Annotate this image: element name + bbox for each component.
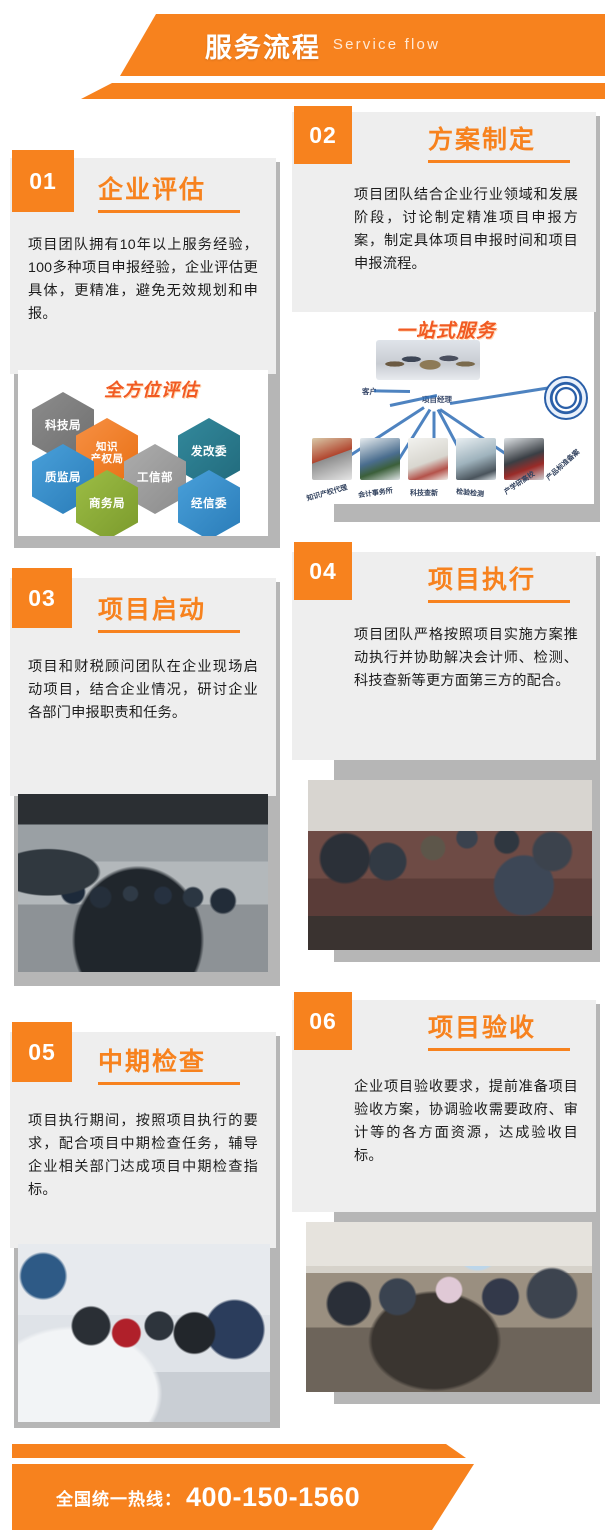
card-photo-exhibition-visit	[18, 1244, 270, 1422]
hotline-label: 全国统一热线：	[56, 1485, 182, 1510]
header-title-group: 服务流程 Service flow	[0, 14, 605, 76]
page-subtitle: Service flow	[333, 36, 440, 55]
card-description: 项目执行期间，按照项目执行的要求，配合项目中期检查任务，辅导企业相关部门达成项目…	[28, 1110, 258, 1202]
step-number-badge: 03	[12, 568, 72, 628]
step-number-badge: 02	[294, 106, 352, 164]
service-chart-team-photo	[376, 340, 480, 380]
hex-node-jingxin: 经信委	[178, 470, 240, 536]
hotline-group: 全国统一热线： 400-150-1560	[56, 1464, 360, 1530]
hexagon-assessment-chart: 全方位评估 科技局 知识 产权局 发改委 质监局 工信部 经信委 商务局	[18, 370, 268, 536]
card-title: 项目执行	[428, 560, 536, 596]
card-photo-working-meeting	[308, 780, 592, 950]
footer-orange-stripe	[12, 1444, 605, 1458]
card-photo-boardroom-acceptance	[306, 1222, 592, 1392]
service-flow-infographic: 服务流程 Service flow 01 企业评估 项目团队拥有10年以上服务经…	[0, 0, 605, 1538]
card-title: 中期检查	[98, 1042, 206, 1078]
photo-image	[308, 780, 592, 950]
step-number-badge: 01	[12, 150, 74, 212]
iso-seal-label: ISO	[558, 393, 574, 403]
hotline-number[interactable]: 400-150-1560	[186, 1482, 360, 1513]
card-description: 项目和财税顾问团队在企业现场启动项目，结合企业情况，研讨企业各部门申报职责和任务…	[28, 656, 258, 725]
step-card-01: 01 企业评估 项目团队拥有10年以上服务经验，100多种项目申报经验，企业评估…	[10, 158, 276, 544]
service-caption-standard: 产品标准备案	[544, 447, 582, 483]
photo-image	[306, 1222, 592, 1392]
service-arrow-3	[450, 386, 553, 405]
photo-image	[18, 794, 268, 972]
service-thumb-ip	[312, 438, 352, 480]
page-header: 服务流程 Service flow	[0, 0, 605, 110]
service-chart-heading: 一站式服务	[396, 316, 496, 343]
step-card-06: 06 项目验收 企业项目验收要求，提前准备项目验收方案，协调验收需要政府、审计等…	[330, 1000, 596, 1400]
card-title: 企业评估	[98, 170, 206, 206]
hexagon-chart-heading: 全方位评估	[104, 376, 199, 402]
card-title-underline	[98, 630, 240, 633]
card-title-underline	[428, 160, 570, 163]
service-thumb-accounting	[360, 438, 400, 480]
card-description: 企业项目验收要求，提前准备项目验收方案，协调验收需要政府、审计等的各方面资源，达…	[354, 1076, 578, 1168]
card-title: 项目验收	[428, 1008, 536, 1044]
card-description: 项目团队结合企业行业领域和发展阶段，讨论制定精准项目申报方案，制定具体项目申报时…	[354, 184, 578, 276]
step-card-03: 03 项目启动 项目和财税顾问团队在企业现场启动项目，结合企业情况，研讨企业各部…	[10, 578, 276, 982]
card-title: 项目启动	[98, 590, 206, 626]
iso-seal-icon: ISO	[544, 376, 588, 420]
card-title-underline	[98, 1082, 240, 1085]
service-arrow-1	[374, 389, 410, 393]
service-caption-accounting: 会计事务所	[357, 486, 393, 501]
step-number-badge: 05	[12, 1022, 72, 1082]
service-caption-research: 科技查新	[410, 488, 438, 498]
card-description: 项目团队拥有10年以上服务经验，100多种项目申报经验，企业评估更具体，更精准，…	[28, 234, 258, 326]
page-footer: 全国统一热线： 400-150-1560	[0, 1428, 605, 1538]
service-caption-inspection: 检验检测	[456, 487, 485, 500]
step-number-badge: 06	[294, 992, 352, 1050]
card-title-underline	[98, 210, 240, 213]
step-number-badge: 04	[294, 542, 352, 600]
card-title: 方案制定	[428, 120, 536, 156]
card-photo-conference-room	[18, 794, 268, 972]
service-thumb-inspection	[456, 438, 496, 480]
card-description: 项目团队严格按照项目实施方案推动执行并协助解决会计师、检测、科技查新等更方面第三…	[354, 624, 578, 693]
photo-image	[18, 1244, 270, 1422]
service-thumb-research	[408, 438, 448, 480]
one-stop-service-chart: 一站式服务 客户 项目经理 知识产权代理 会计事务所 科技查	[298, 312, 594, 504]
service-caption-ip: 知识产权代理	[305, 482, 348, 503]
page-title: 服务流程	[205, 26, 321, 65]
header-orange-stripe	[0, 83, 605, 99]
card-title-underline	[428, 600, 570, 603]
step-card-02: 02 方案制定 项目团队结合企业行业领域和发展阶段，讨论制定精准项目申报方案，制…	[330, 112, 596, 518]
card-title-underline	[428, 1048, 570, 1051]
step-card-05: 05 中期检查 项目执行期间，按照项目执行的要求，配合项目中期检查任务，辅导企业…	[10, 1032, 276, 1424]
step-card-04: 04 项目执行 项目团队严格按照项目实施方案推动执行并协助解决会计师、检测、科技…	[330, 552, 596, 958]
